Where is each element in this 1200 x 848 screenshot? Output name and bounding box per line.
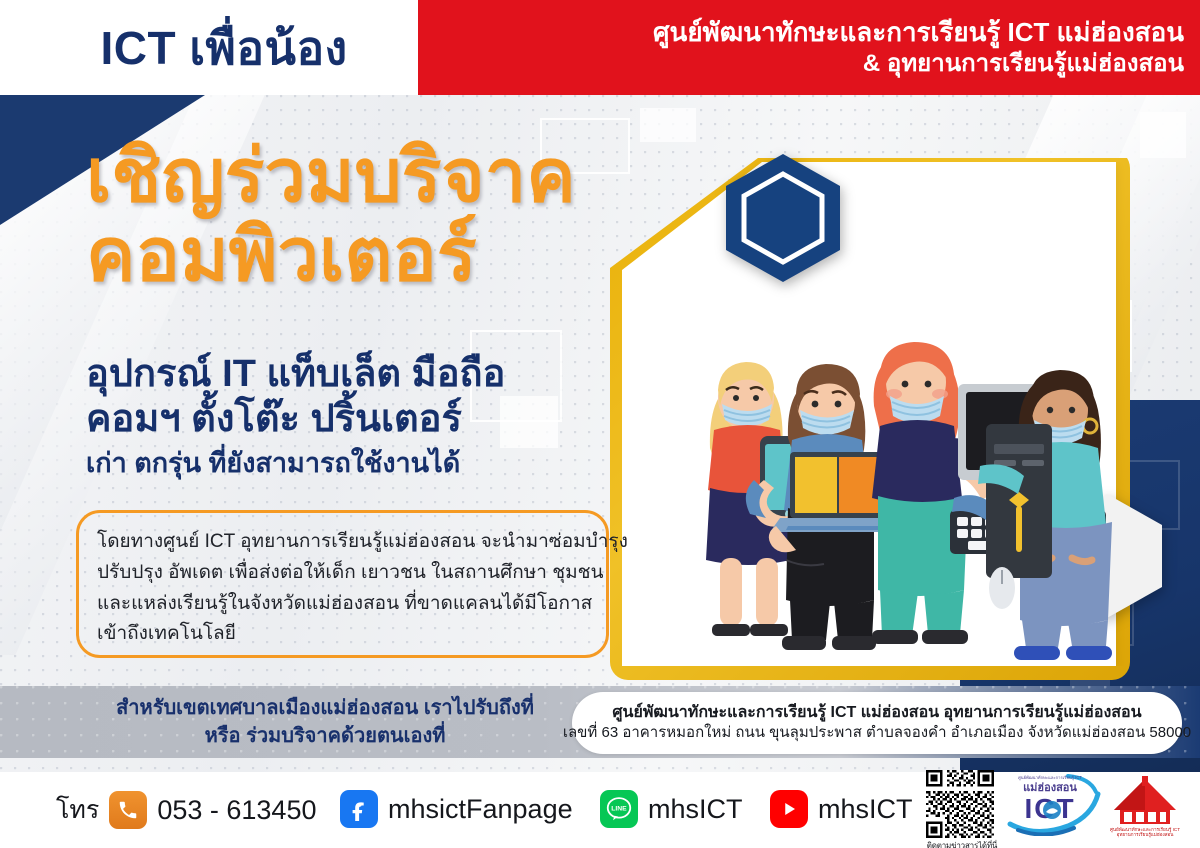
phone-label: โทร <box>56 790 99 830</box>
contact-youtube[interactable]: mhsICT <box>770 790 913 828</box>
house-logo-line-2: อุทยานการเรียนรู้แม่ฮ่องสอน <box>1117 831 1175 838</box>
poster-root: ICT เพื่อน้อง ศูนย์พัฒนาทักษะและการเรียน… <box>0 0 1200 848</box>
headline-line-2: คอมพิวเตอร์ <box>86 219 706 290</box>
pickup-note-line-2: หรือ ร่วมบริจาคด้วยตนเองที่ <box>90 722 560 750</box>
qr-caption: ติดตามข่าวสารได้ที่นี่ <box>926 839 998 848</box>
tech-square <box>640 108 696 142</box>
youtube-icon <box>770 790 808 828</box>
headline-line-1: เชิญร่วมบริจาค <box>86 140 706 211</box>
line-handle: mhsICT <box>648 794 743 825</box>
header: ICT เพื่อน้อง ศูนย์พัฒนาทักษะและการเรียน… <box>0 0 1200 95</box>
page-title: ICT เพื่อน้อง <box>44 16 404 80</box>
description-line-3: และแหล่งเรียนรู้ในจังหวัดแม่ฮ่องสอน ที่ข… <box>97 589 588 620</box>
qr-code-icon[interactable] <box>926 770 994 838</box>
subheadline-line-3: เก่า ตกรุ่น ที่ยังสามารถใช้งานได้ <box>86 446 646 481</box>
facebook-handle: mhsictFanpage <box>388 794 573 825</box>
subheadline-line-2: คอมฯ ตั้งโต๊ะ ปริ้นเตอร์ <box>86 397 646 442</box>
address-org-name: ศูนย์พัฒนาทักษะและการเรียนรู้ ICT แม่ฮ่อ… <box>612 703 1141 724</box>
contact-line[interactable]: LINE mhsICT <box>600 790 743 828</box>
hexagon-badge-icon <box>722 152 844 284</box>
banner-line-2: & อุทยานการเรียนรู้แม่ฮ่องสอน <box>863 49 1184 78</box>
address-street: เลขที่ 63 อาคารหมอกใหม่ ถนน ขุนลุมประพาส… <box>563 723 1191 743</box>
subheadline-line-1: อุปกรณ์ IT แท็บเล็ต มือถือ <box>86 352 646 397</box>
phone-number: 053 - 613450 <box>157 795 316 826</box>
tech-square <box>1140 112 1186 158</box>
description-line-1: โดยทางศูนย์ ICT อุทยานการเรียนรู้แม่ฮ่อง… <box>97 527 588 558</box>
contact-facebook[interactable]: mhsictFanpage <box>340 790 573 828</box>
learning-park-house-logo: ศูนย์พัฒนาทักษะและการเรียนรู้ ICT อุทยาน… <box>1106 776 1184 838</box>
line-icon: LINE <box>600 790 638 828</box>
description-line-2: ปรับปรุง อัพเดต เพื่อส่งต่อให้เด็ก เยาวช… <box>97 558 588 589</box>
phone-icon <box>109 791 147 829</box>
headline: เชิญร่วมบริจาค คอมพิวเตอร์ <box>86 140 706 290</box>
ict-maehongson-logo: ศูนย์พัฒนาทักษะและการเรียนรู้ ICT แม่ฮ่อ… <box>1006 770 1102 836</box>
banner-line-1: ศูนย์พัฒนาทักษะและการเรียนรู้ ICT แม่ฮ่อ… <box>653 17 1184 49</box>
facebook-icon <box>340 790 378 828</box>
description-box: โดยทางศูนย์ ICT อุทยานการเรียนรู้แม่ฮ่อง… <box>76 510 609 658</box>
pickup-note: สำหรับเขตเทศบาลเมืองแม่ฮ่องสอน เราไปรับถ… <box>90 694 560 751</box>
people-donating-devices-illustration <box>668 330 1118 680</box>
red-banner: ศูนย์พัฒนาทักษะและการเรียนรู้ ICT แม่ฮ่อ… <box>418 0 1200 95</box>
youtube-handle: mhsICT <box>818 794 913 825</box>
pickup-note-line-1: สำหรับเขตเทศบาลเมืองแม่ฮ่องสอน เราไปรับถ… <box>90 694 560 722</box>
contact-phone[interactable]: โทร 053 - 613450 <box>56 790 316 830</box>
svg-text:LINE: LINE <box>611 806 627 813</box>
description-line-4: เข้าถึงเทคโนโลยี <box>97 619 588 650</box>
subheadline: อุปกรณ์ IT แท็บเล็ต มือถือ คอมฯ ตั้งโต๊ะ… <box>86 352 646 481</box>
address-pill: ศูนย์พัฒนาทักษะและการเรียนรู้ ICT แม่ฮ่อ… <box>572 692 1182 754</box>
ict-logo-subtitle: ศูนย์พัฒนาทักษะและการเรียนรู้ ICT <box>1018 775 1082 781</box>
qr-code-block[interactable]: ติดตามข่าวสารได้ที่นี่ <box>926 770 998 848</box>
